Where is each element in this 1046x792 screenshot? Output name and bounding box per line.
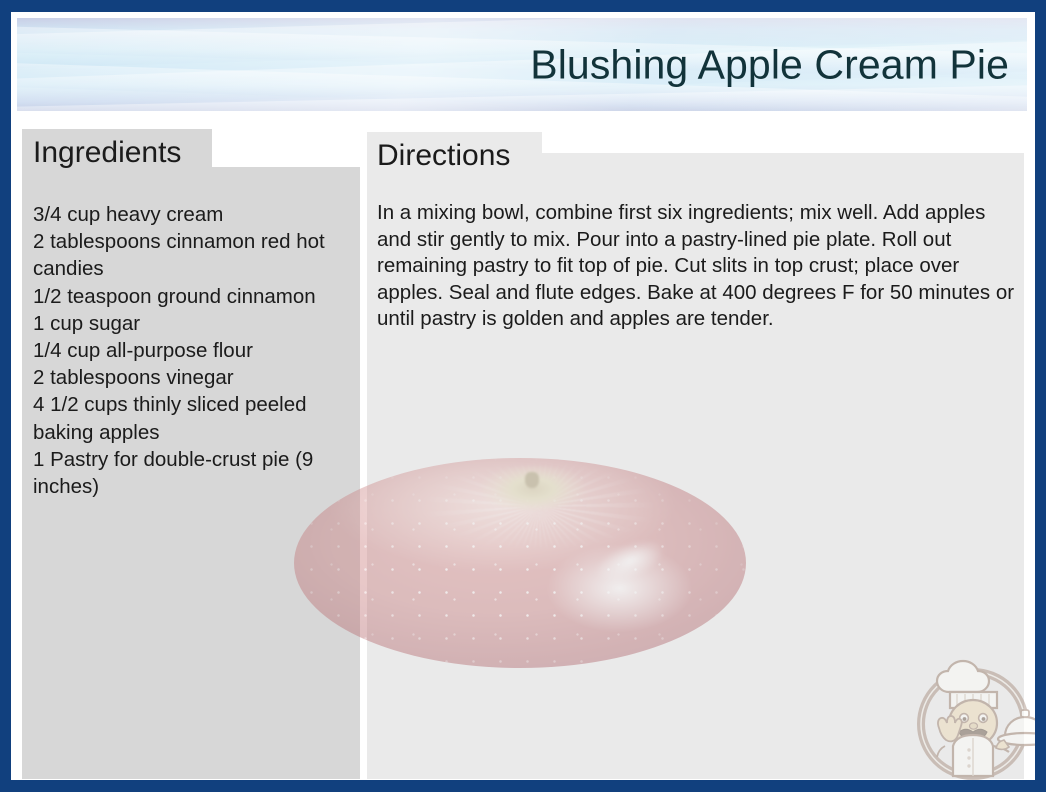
list-item: 2 tablespoons vinegar (33, 364, 351, 391)
list-item: 2 tablespoons cinnamon red hot candies (33, 228, 351, 282)
ingredients-list: 3/4 cup heavy cream 2 tablespoons cinnam… (33, 201, 351, 500)
list-item: 4 1/2 cups thinly sliced peeled baking a… (33, 391, 351, 445)
card-stage: Blushing Apple Cream Pie Ingredients 3/4… (11, 12, 1035, 780)
list-item: 1/2 teaspoon ground cinnamon (33, 283, 351, 310)
title-banner: Blushing Apple Cream Pie (17, 18, 1027, 111)
list-item: 3/4 cup heavy cream (33, 201, 351, 228)
recipe-card: Blushing Apple Cream Pie Ingredients 3/4… (0, 0, 1046, 792)
list-item: 1/4 cup all-purpose flour (33, 337, 351, 364)
list-item: 1 cup sugar (33, 310, 351, 337)
panel-divider (360, 153, 367, 779)
list-item: 1 Pastry for double-crust pie (9 inches) (33, 446, 351, 500)
ingredients-heading: Ingredients (33, 138, 181, 168)
directions-text: In a mixing bowl, combine first six ingr… (377, 200, 1020, 333)
directions-heading: Directions (377, 141, 510, 171)
page-title: Blushing Apple Cream Pie (530, 44, 1009, 85)
